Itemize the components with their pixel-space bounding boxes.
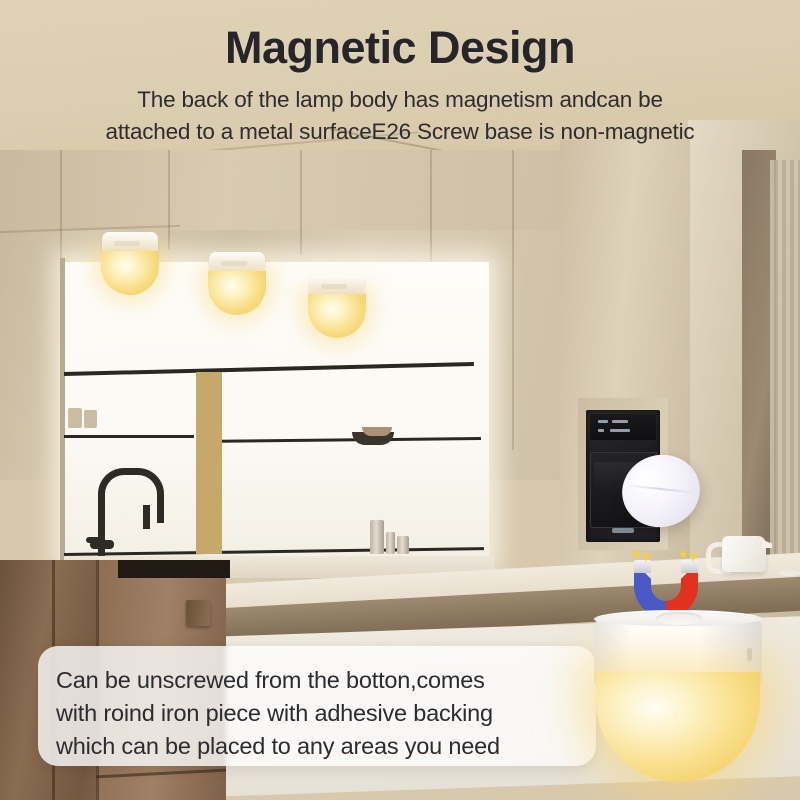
magnet-tip-left — [634, 560, 651, 573]
wall-lamp-2 — [205, 252, 269, 314]
lamp-glow-dome — [101, 251, 159, 295]
oven-indicator — [598, 429, 604, 432]
lamp-glow-dome — [596, 672, 760, 782]
cabinet-knob — [186, 600, 210, 626]
oven-indicator — [610, 429, 630, 432]
saucer — [778, 570, 800, 576]
caption-line-2: with roind iron piece with adhesive back… — [56, 697, 586, 730]
lamp-screw-base-recess — [656, 612, 702, 625]
wall-lamp-3 — [305, 275, 369, 337]
counter-cylinder — [386, 532, 395, 554]
window-post — [196, 372, 222, 554]
shelf-rail-middle-left — [64, 435, 194, 438]
horseshoe-magnet-icon — [628, 548, 704, 618]
lamp-glow-dome — [308, 294, 366, 338]
oven-indicator — [612, 420, 628, 423]
cabinet-seam — [300, 150, 302, 255]
shelf-bowl-inner — [362, 427, 392, 436]
faucet-spout — [143, 505, 150, 529]
page-subtitle: The back of the lamp body has magnetism … — [30, 84, 770, 148]
shelf-jar — [84, 410, 97, 428]
curtain — [770, 160, 800, 560]
lamp-glow-dome — [208, 271, 266, 315]
counter-cylinder — [370, 520, 384, 554]
product-marketing-image: Magnetic Design The back of the lamp bod… — [0, 0, 800, 800]
oven-brand-logo — [612, 528, 634, 533]
wood-drawer-gap — [118, 560, 230, 578]
cabinet-seam — [512, 150, 514, 450]
cabinet-seam — [430, 150, 432, 268]
magnetic-night-light-product — [588, 610, 770, 782]
wall-lamp-1 — [98, 232, 162, 294]
subtitle-line-2: attached to a metal surfaceE26 Screw bas… — [30, 116, 770, 148]
faucet-arc — [98, 468, 164, 523]
lamp-vent-slot — [747, 648, 752, 661]
caption-text: Can be unscrewed from the botton,comes w… — [56, 664, 586, 763]
oven-control-panel — [590, 414, 656, 440]
subtitle-line-1: The back of the lamp body has magnetism … — [30, 84, 770, 116]
faucet-base — [90, 540, 114, 549]
teapot — [722, 536, 766, 572]
caption-line-3: which can be placed to any areas you nee… — [56, 730, 586, 763]
shelf-jar — [68, 408, 82, 428]
counter-cylinder — [397, 536, 409, 554]
page-title: Magnetic Design — [0, 22, 800, 74]
cabinet-seam — [168, 150, 170, 250]
upper-cabinet-row — [0, 150, 565, 230]
caption-line-1: Can be unscrewed from the botton,comes — [56, 664, 586, 697]
oven-indicator — [598, 420, 608, 423]
magnet-tip-right — [681, 560, 698, 573]
window-frame-left — [60, 258, 65, 566]
